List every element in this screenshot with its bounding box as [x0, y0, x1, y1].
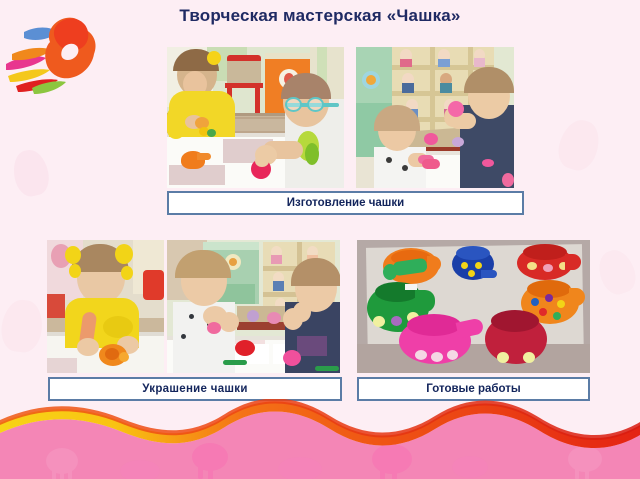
photo-decorating-2	[167, 240, 340, 373]
caption-finished-text: Готовые работы	[426, 383, 520, 395]
caption-decorating-text: Украшение чашки	[142, 383, 247, 395]
caption-making-text: Изготовление чашки	[287, 197, 404, 209]
decorative-wave-band	[0, 399, 640, 479]
photo-finished-works	[357, 240, 590, 373]
caption-decorating: Украшение чашки	[48, 377, 342, 401]
page-title: Творческая мастерская «Чашка»	[0, 6, 640, 26]
caption-finished: Готовые работы	[357, 377, 590, 401]
photo-decorating-1	[47, 240, 164, 373]
caption-making: Изготовление чашки	[167, 191, 524, 215]
photo-making-1	[167, 47, 344, 188]
photo-making-2	[356, 47, 514, 188]
